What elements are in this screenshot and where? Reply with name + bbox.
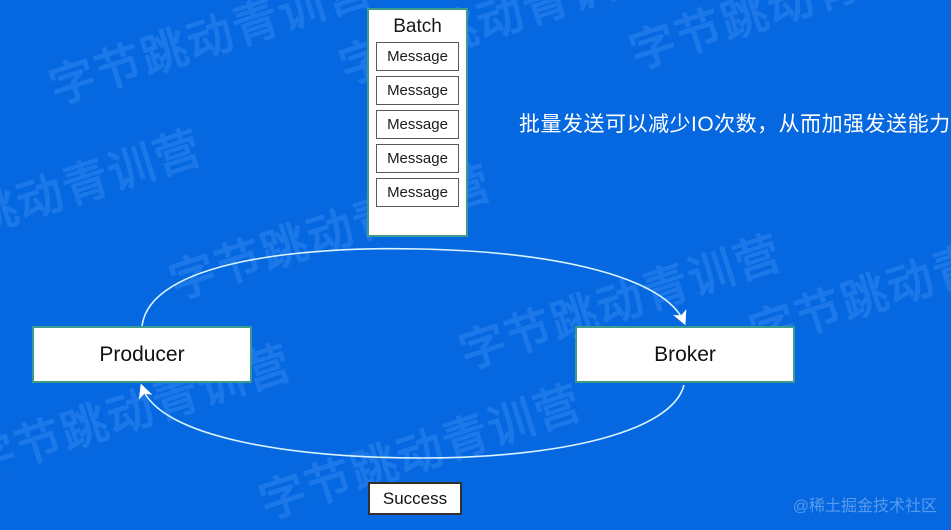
watermark-tile: 字节跳动青训营 [0, 111, 210, 278]
batch-box: Batch Message Message Message Message Me… [367, 8, 468, 237]
batch-label: Batch [369, 12, 466, 42]
broker-to-producer-arrow [142, 385, 684, 458]
producer-node: Producer [32, 326, 252, 383]
message-item: Message [376, 42, 459, 71]
message-list: Message Message Message Message Message [369, 42, 466, 210]
message-item: Message [376, 144, 459, 173]
message-item: Message [376, 110, 459, 139]
message-item: Message [376, 178, 459, 207]
annotation-text: 批量发送可以减少IO次数，从而加强发送能力 [519, 108, 951, 138]
message-item: Message [376, 76, 459, 105]
success-node: Success [368, 482, 462, 515]
producer-label: Producer [99, 343, 184, 367]
watermark-tile: 字节跳动青训营 [620, 0, 951, 83]
watermark-tile: 字节跳动青训营 [40, 0, 380, 118]
diagram-canvas: 字节跳动青训营 字节跳动青训营 字节跳动青训营 字节跳动青训营 字节跳动青训营 … [0, 0, 951, 530]
success-label: Success [383, 489, 447, 509]
broker-label: Broker [654, 343, 716, 367]
background-watermark: 字节跳动青训营 字节跳动青训营 字节跳动青训营 字节跳动青训营 字节跳动青训营 … [0, 0, 951, 530]
corner-watermark: @稀土掘金技术社区 [793, 492, 937, 516]
broker-node: Broker [575, 326, 795, 383]
flow-diagram-lines [0, 0, 951, 530]
producer-to-broker-arrow [142, 249, 684, 326]
